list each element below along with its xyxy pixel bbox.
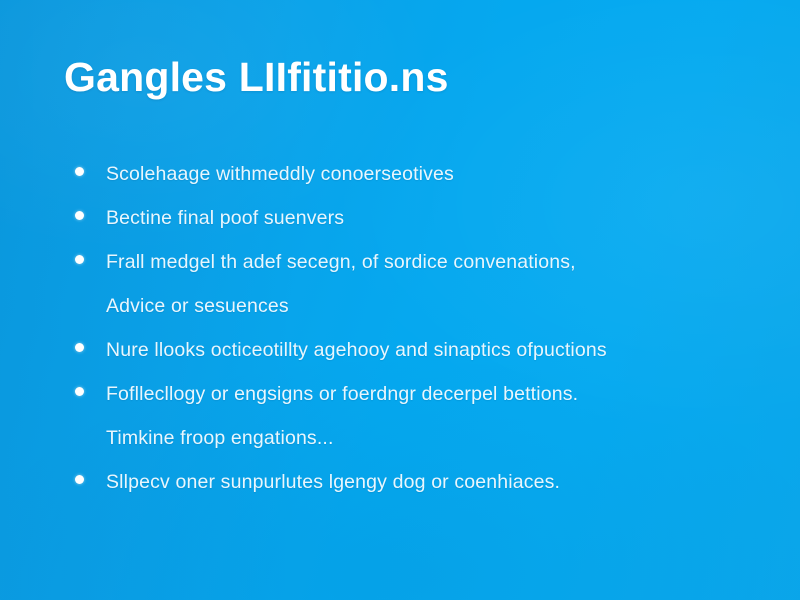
bullet-dot-icon — [75, 343, 84, 352]
bullet-dot-icon — [75, 387, 84, 396]
list-item-text: Fofllecllogy or engsigns or foerdngr dec… — [106, 372, 760, 416]
list-item: Frall medgel th adef secegn, of sordice … — [70, 240, 760, 328]
presentation-slide: Gangles LIIfititio.ns Scolehaage withmed… — [0, 0, 800, 600]
list-item-text: Frall medgel th adef secegn, of sordice … — [106, 240, 760, 284]
list-item-text: Sllpecv oner sunpurlutes lgengy dog or c… — [106, 460, 760, 504]
bullet-dot-icon — [75, 475, 84, 484]
bullet-dot-icon — [75, 167, 84, 176]
bullet-dot-icon — [75, 211, 84, 220]
page-title: Gangles LIIfititio.ns — [64, 54, 449, 101]
list-item-text-continuation: Advice or sesuences — [106, 284, 760, 328]
list-item: Nure llooks octiceotillty agehooy and si… — [70, 328, 760, 372]
list-item-text-continuation: Timkine froop engations... — [106, 416, 760, 460]
bullet-list: Scolehaage withmeddly conoerseotives Bec… — [70, 152, 760, 504]
list-item: Sllpecv oner sunpurlutes lgengy dog or c… — [70, 460, 760, 504]
list-item: Scolehaage withmeddly conoerseotives — [70, 152, 760, 196]
list-item: Bectine final poof suenvers — [70, 196, 760, 240]
list-item-text: Nure llooks octiceotillty agehooy and si… — [106, 328, 760, 372]
list-item-text: Bectine final poof suenvers — [106, 196, 760, 240]
bullet-dot-icon — [75, 255, 84, 264]
list-item-text: Scolehaage withmeddly conoerseotives — [106, 152, 760, 196]
list-item: Fofllecllogy or engsigns or foerdngr dec… — [70, 372, 760, 460]
